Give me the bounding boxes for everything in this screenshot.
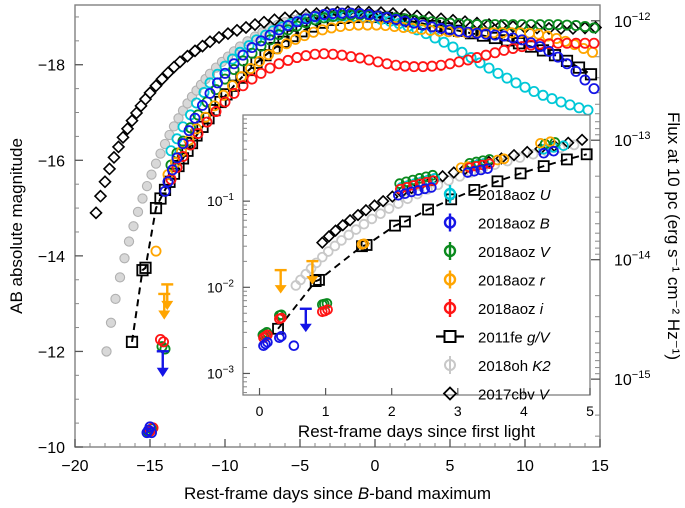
legend-label: 2018aoz U [478,187,551,204]
upper-limit-arrow [157,351,169,377]
legend-label: 2011fe g/V [478,330,551,347]
legend-label: 2018aoz i [478,301,544,318]
main-right-tick-label: 10−14 [614,250,650,270]
main-right-axis-label: Flux at 10 pc (erg s⁻¹ cm⁻² Hz⁻¹) [664,112,683,360]
main-x-tick-label: −15 [136,458,163,475]
main-x-tick-label: 0 [371,458,380,475]
legend-label: 2018oh K2 [478,358,551,375]
light-curve-plot: −20−15−10−5051015−18−16−14−12−1010−1210−… [0,0,685,508]
main-x-axis-label: Rest-frame days since B-band maximum [184,484,491,503]
main-y-axis: −18−16−14−12−10 [38,17,83,457]
legend-label: 2018aoz B [478,216,550,233]
main-x-tick-label: 5 [446,458,455,475]
main-x-tick-label: 15 [591,458,609,475]
inset-y-tick-label: 10−2 [207,278,234,295]
legend-label: 2017cbv V [478,387,551,404]
main-x-tick-label: −10 [211,458,238,475]
main-y-tick-label: −12 [38,344,65,361]
legend-label: 2018aoz r [478,273,546,290]
main-x-tick-label: 10 [516,458,534,475]
main-x-tick-label: −20 [61,458,88,475]
main-y-tick-label: −10 [38,440,65,457]
inset-x-axis-label: Rest-frame days since first light [298,422,535,441]
inset-y-tick-label: 10−3 [207,364,234,381]
main-right-tick-label: 10−15 [614,369,650,389]
main-y-axis-label: AB absolute magnitude [7,138,26,314]
inset-x-tick-label: 1 [322,403,330,419]
inset-x-tick-label: 3 [454,403,462,419]
inset-x-tick-label: 0 [256,403,264,419]
inset-x-tick-label: 2 [388,403,396,419]
inset-y-tick-label: 10−1 [207,192,234,209]
main-right-tick-label: 10−13 [614,130,650,150]
main-x-tick-label: −5 [291,458,309,475]
figure-canvas: −20−15−10−5051015−18−16−14−12−1010−1210−… [0,0,685,508]
main-right-tick-label: 10−12 [614,11,650,31]
legend-label: 2018aoz V [478,244,552,261]
main-x-axis: −20−15−10−5051015 [61,439,609,475]
inset-x-tick-label: 4 [520,403,528,419]
main-y-tick-label: −14 [38,249,65,266]
main-y-tick-label: −18 [38,58,65,75]
inset-x-tick-label: 5 [586,403,594,419]
main-y-tick-label: −16 [38,153,65,170]
